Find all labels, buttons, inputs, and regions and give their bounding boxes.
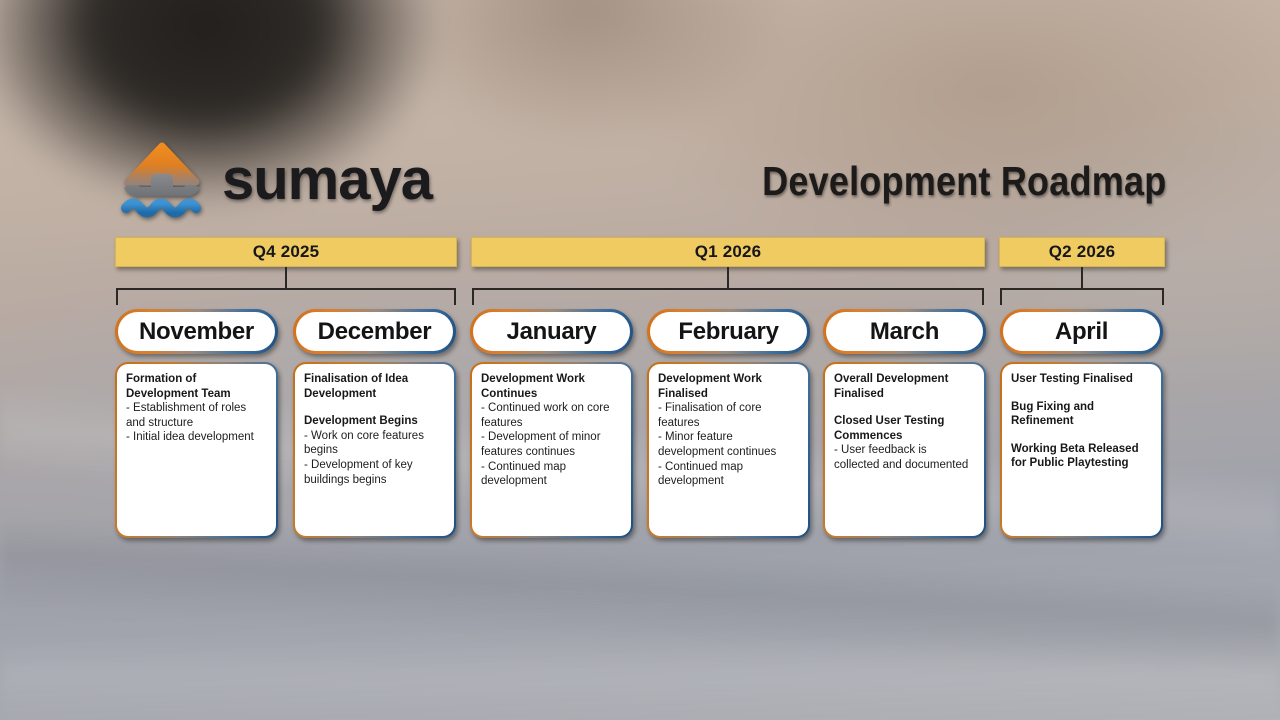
month-card-april[interactable]: User Testing FinalisedBug Fixing andRefi… [1000, 362, 1163, 538]
card-bullet-line: features continues [481, 445, 622, 460]
card-spacer [834, 401, 975, 414]
month-card-november[interactable]: Formation ofDevelopment Team- Establishm… [115, 362, 278, 538]
bracket-leg-right [1162, 288, 1164, 305]
card-bullet-line: - Initial idea development [126, 430, 267, 445]
card-bullet-line: - Continued map [481, 460, 622, 475]
card-heading-line: for Public Playtesting [1011, 456, 1152, 471]
card-bullet-line: - Work on core features [304, 429, 445, 444]
bracket-stem [285, 267, 287, 289]
quarter-bar-q2-2026: Q2 2026 [999, 237, 1165, 267]
bracket-rail [472, 288, 984, 290]
bracket-leg-right [982, 288, 984, 305]
card-heading-line: Continues [481, 387, 622, 402]
month-card-march[interactable]: Overall DevelopmentFinalisedClosed User … [823, 362, 986, 538]
month-label: April [1055, 318, 1108, 346]
card-spacer [1011, 387, 1152, 400]
month-label: November [139, 318, 254, 346]
month-card-january[interactable]: Development WorkContinues- Continued wor… [470, 362, 633, 538]
card-bullet-line: begins [304, 443, 445, 458]
card-bullet-line: collected and documented [834, 458, 975, 473]
quarter-label: Q2 2026 [1049, 242, 1116, 262]
month-pill-april[interactable]: April [1000, 309, 1163, 354]
card-heading-line: Commences [834, 429, 975, 444]
card-heading-line: Formation of [126, 372, 267, 387]
month-label: February [678, 318, 778, 346]
card-bullet-line: - Minor feature [658, 430, 799, 445]
card-heading-line: Finalised [834, 387, 975, 402]
card-bullet-line: development [481, 474, 622, 489]
card-bullet-line: - Continued work on core [481, 401, 622, 416]
card-bullet-line: and structure [126, 416, 267, 431]
card-heading-line: Development Team [126, 387, 267, 402]
quarter-bracket-q2-2026 [999, 267, 1165, 309]
bracket-leg-left [116, 288, 118, 305]
card-heading-line: User Testing Finalised [1011, 372, 1152, 387]
card-heading-line: Finalised [658, 387, 799, 402]
card-bullet-line: - Finalisation of core [658, 401, 799, 416]
month-pill-february[interactable]: February [647, 309, 810, 354]
card-bullet-line: - User feedback is [834, 443, 975, 458]
bracket-leg-right [454, 288, 456, 305]
quarter-label: Q1 2026 [695, 242, 762, 262]
month-card-december[interactable]: Finalisation of IdeaDevelopmentDevelopme… [293, 362, 456, 538]
card-bullet-line: development [658, 474, 799, 489]
bracket-stem [727, 267, 729, 289]
card-heading-line: Development Work [658, 372, 799, 387]
quarter-bracket-q4-2025 [115, 267, 457, 309]
card-heading-line: Working Beta Released [1011, 442, 1152, 457]
card-heading-line: Closed User Testing [834, 414, 975, 429]
card-heading-line: Development Begins [304, 414, 445, 429]
card-heading-line: Overall Development [834, 372, 975, 387]
card-bullet-line: - Continued map [658, 460, 799, 475]
brand-logo: sumaya [116, 138, 432, 222]
card-heading-line: Bug Fixing and [1011, 400, 1152, 415]
quarter-label: Q4 2025 [253, 242, 320, 262]
bracket-stem [1081, 267, 1083, 289]
card-spacer [304, 401, 445, 414]
bracket-rail [1000, 288, 1164, 290]
brand-name: sumaya [222, 151, 432, 209]
card-bullet-line: - Establishment of roles [126, 401, 267, 416]
page-title: Development Roadmap [762, 158, 1166, 205]
month-pill-january[interactable]: January [470, 309, 633, 354]
card-heading-line: Development [304, 387, 445, 402]
card-bullet-line: - Development of key [304, 458, 445, 473]
quarter-bracket-q1-2026 [471, 267, 985, 309]
card-heading-line: Development Work [481, 372, 622, 387]
month-label: January [507, 318, 597, 346]
quarter-bar-q4-2025: Q4 2025 [115, 237, 457, 267]
month-pill-march[interactable]: March [823, 309, 986, 354]
card-heading-line: Finalisation of Idea [304, 372, 445, 387]
footer: mysverse Supported by TM [0, 606, 1280, 686]
house-on-water-icon [116, 138, 208, 222]
month-label: December [318, 318, 432, 346]
quarter-bar-q1-2026: Q1 2026 [471, 237, 985, 267]
month-pill-december[interactable]: December [293, 309, 456, 354]
month-pill-november[interactable]: November [115, 309, 278, 354]
card-spacer [1011, 429, 1152, 442]
bracket-rail [116, 288, 456, 290]
bracket-leg-left [1000, 288, 1002, 305]
card-bullet-line: features [658, 416, 799, 431]
card-bullet-line: buildings begins [304, 473, 445, 488]
roadmap-slide: sumaya Development Roadmap Q4 2025Q1 202… [0, 0, 1280, 720]
card-bullet-line: - Development of minor [481, 430, 622, 445]
card-heading-line: Refinement [1011, 414, 1152, 429]
card-bullet-line: development continues [658, 445, 799, 460]
bracket-leg-left [472, 288, 474, 305]
card-bullet-line: features [481, 416, 622, 431]
month-card-february[interactable]: Development WorkFinalised- Finalisation … [647, 362, 810, 538]
month-label: March [870, 318, 939, 346]
